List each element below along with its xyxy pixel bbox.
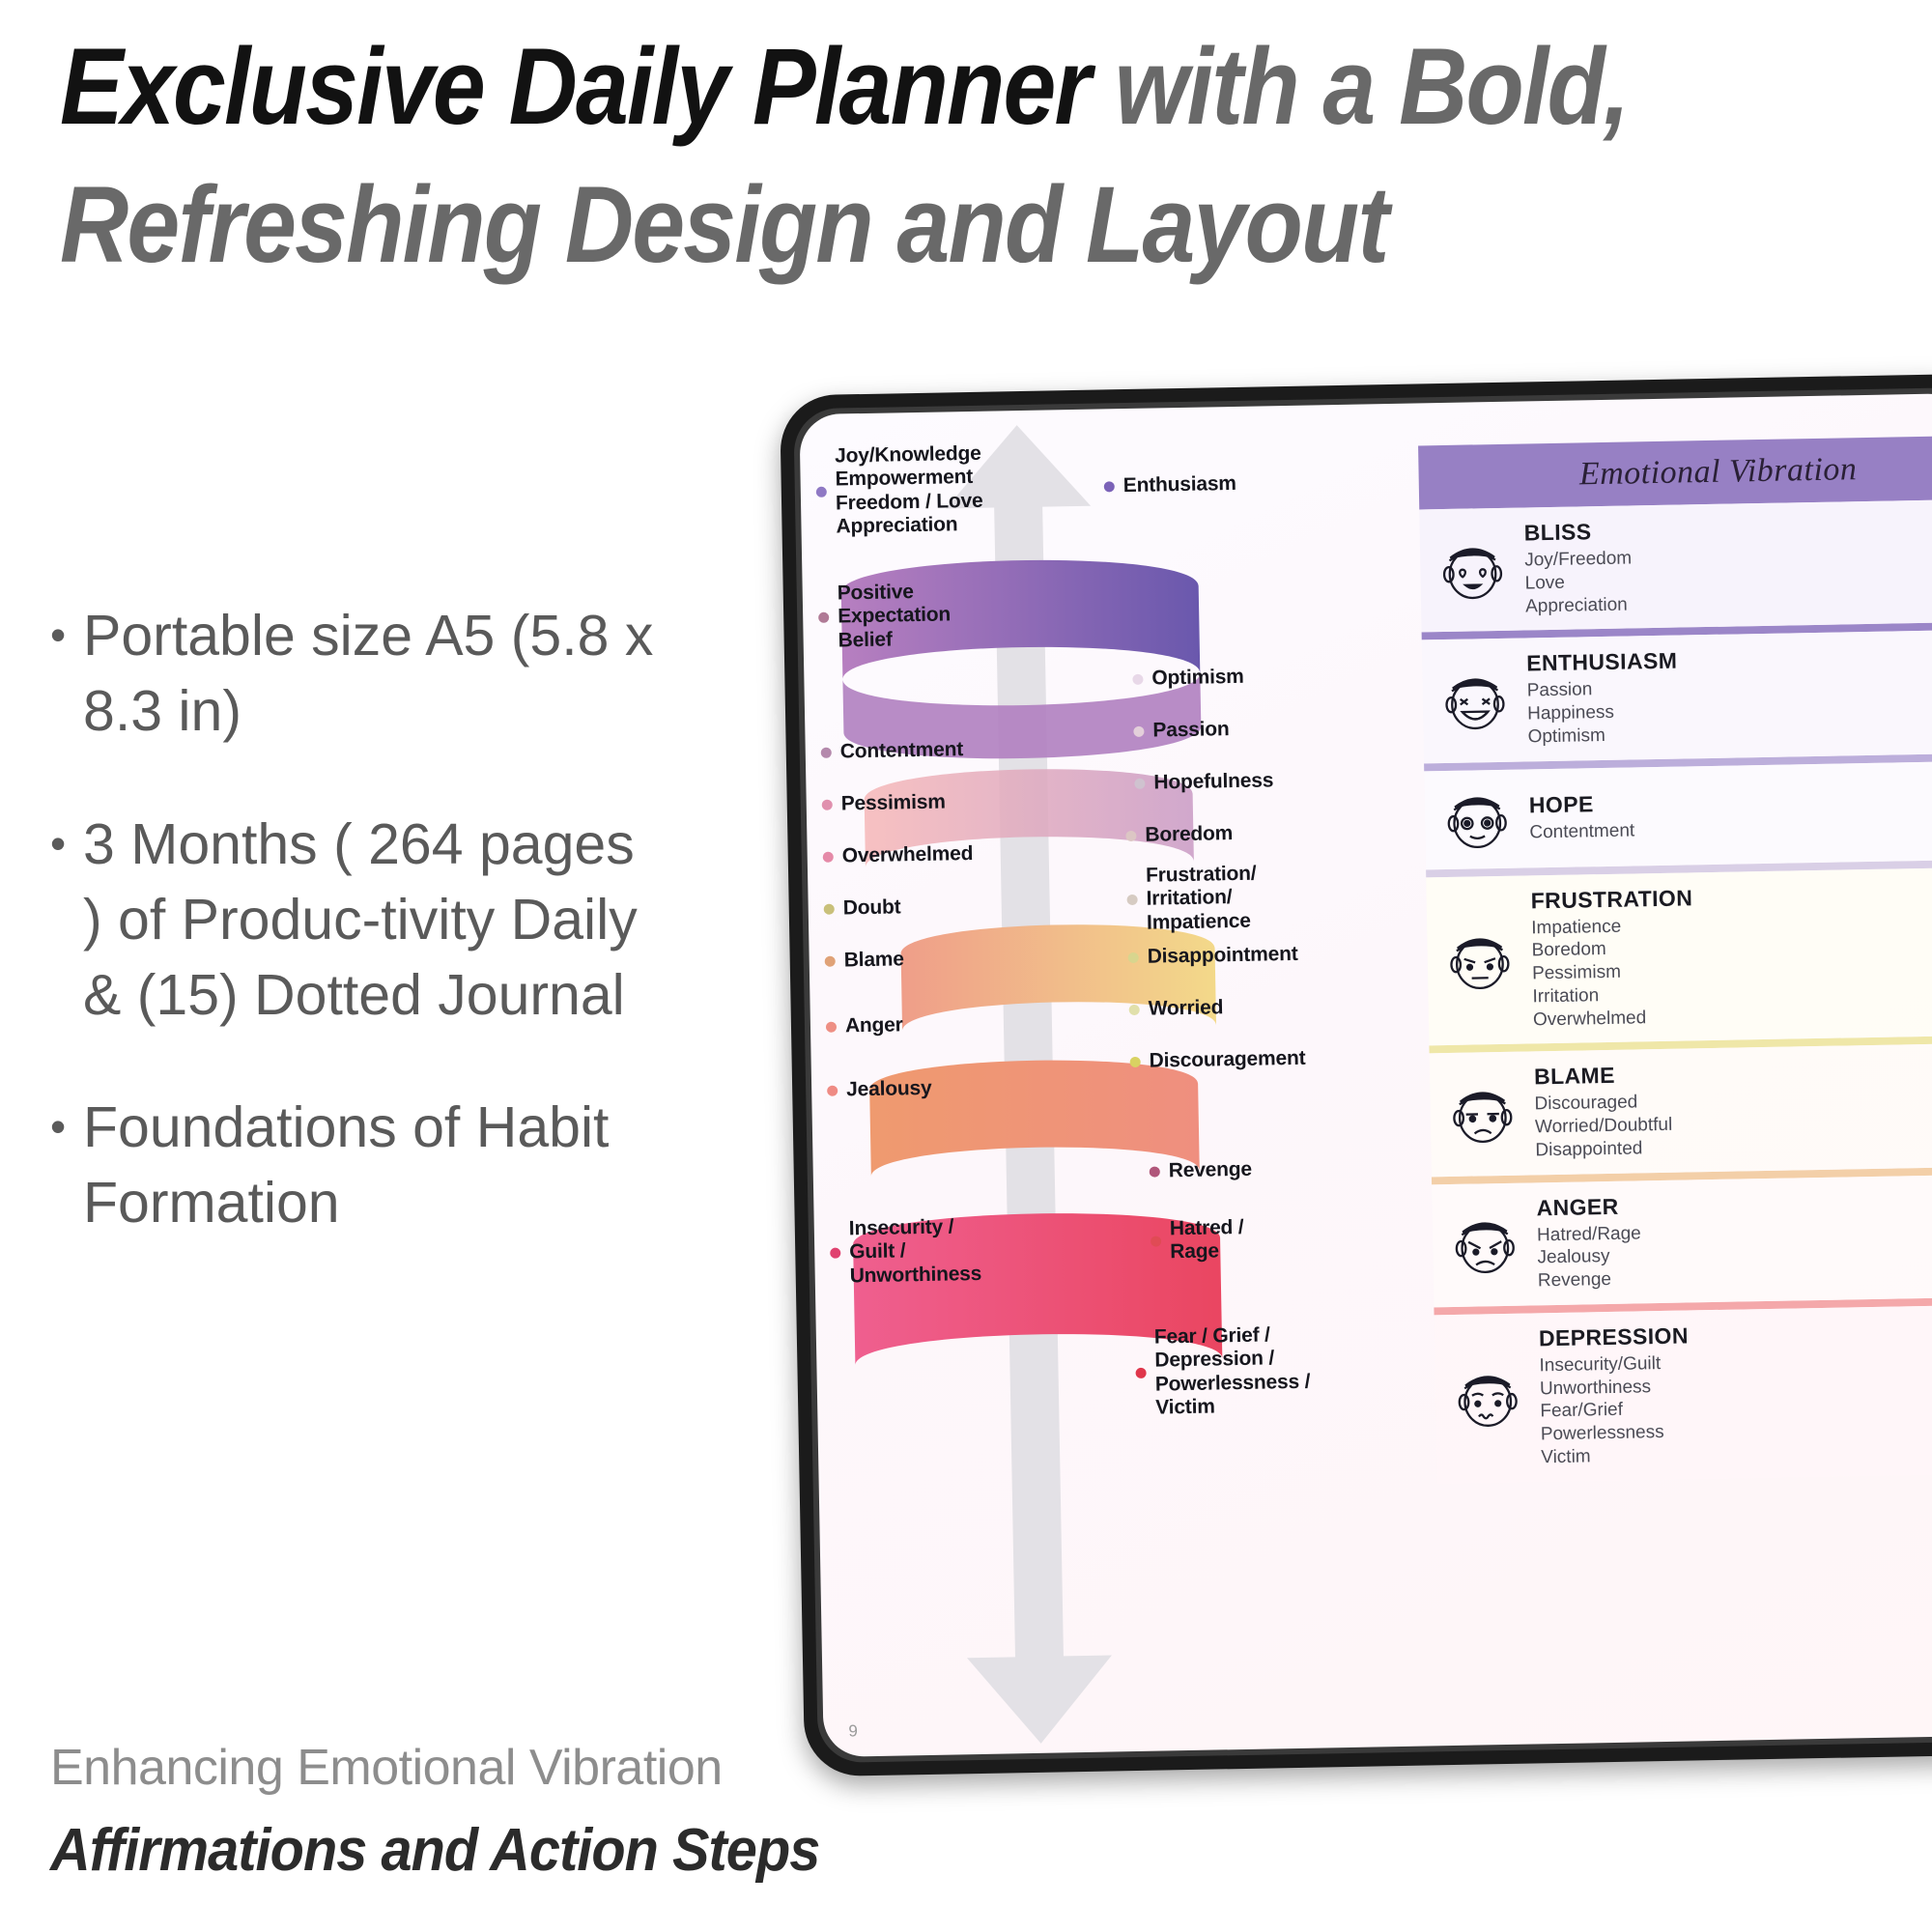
legend-dot-icon xyxy=(830,1248,840,1259)
diagram-label-insecurity: Insecurity / Guilt / Unworthiness xyxy=(830,1215,982,1289)
row-subtitle: Insecurity/Guilt Unworthiness Fear/Grief… xyxy=(1539,1346,1932,1469)
legend-dot-icon xyxy=(825,955,836,966)
tablet-bezel: Joy/Knowledge Empowerment Freedom / Love… xyxy=(793,387,1932,1763)
headline-line-1: Exclusive Daily Planner with a Bold, xyxy=(60,17,1675,156)
diagram-label-discouragement: Discouragement xyxy=(1129,1047,1305,1074)
diagram-label-fear-grief: Fear / Grief / Depression / Powerlessnes… xyxy=(1135,1323,1311,1421)
diagram-label-pessimism: Pessimism xyxy=(822,790,946,816)
legend-dot-icon xyxy=(1151,1236,1161,1246)
headline-gray-part: with a Bold, xyxy=(1115,26,1629,147)
table-header: Emotional Vibration xyxy=(1418,435,1932,509)
footer-subtitle: Enhancing Emotional Vibration xyxy=(50,1739,723,1797)
headline-line-2: Refreshing Design and Layout xyxy=(60,156,1675,294)
bullet-text: 3 Months ( 264 pages ) of Produc-tivity … xyxy=(83,808,668,1034)
depression-face xyxy=(1450,1361,1524,1435)
diagram-label-hopefulness: Hopefulness xyxy=(1134,769,1273,795)
legend-dot-icon xyxy=(816,487,827,497)
bullet-marker-icon: • xyxy=(50,1091,83,1241)
bullet-marker-icon: • xyxy=(50,599,83,750)
table-header-label: Emotional Vibration xyxy=(1579,451,1858,493)
legend-dot-icon xyxy=(823,851,834,862)
anger-face xyxy=(1448,1207,1522,1282)
diagram-label-revenge: Revenge xyxy=(1150,1158,1253,1183)
legend-dot-icon xyxy=(1128,952,1139,963)
emotional-vibration-spiral-diagram: Joy/Knowledge Empowerment Freedom / Love… xyxy=(799,404,1422,1757)
row-subtitle: Joy/Freedom Love Appreciation xyxy=(1524,540,1932,617)
bullet-text: Foundations of Habit Formation xyxy=(83,1091,668,1241)
bliss-face xyxy=(1435,532,1510,607)
legend-dot-icon xyxy=(1104,481,1115,492)
legend-dot-icon xyxy=(1125,831,1136,841)
emotional-vibration-table: Emotional Vibration xyxy=(1418,435,1932,1717)
planner-page: Joy/Knowledge Empowerment Freedom / Love… xyxy=(799,393,1932,1757)
table-row[interactable]: FRUSTRATION Impatience Boredom Pessimism… xyxy=(1426,867,1932,1046)
legend-dot-icon xyxy=(1150,1166,1160,1177)
list-item: • Portable size A5 (5.8 x 8.3 in) xyxy=(50,599,668,750)
list-item: • Foundations of Habit Formation xyxy=(50,1091,668,1241)
bullet-marker-icon: • xyxy=(50,808,83,1034)
legend-dot-icon xyxy=(1129,1005,1140,1015)
row-title: FRUSTRATION xyxy=(1530,879,1932,914)
diagram-label-hatred-rage: Hatred / Rage xyxy=(1151,1216,1244,1264)
feature-bullet-list: • Portable size A5 (5.8 x 8.3 in) • 3 Mo… xyxy=(50,599,668,1299)
table-row[interactable]: BLISS Joy/Freedom Love Appreciation xyxy=(1419,498,1932,633)
row-title: BLAME xyxy=(1534,1055,1932,1090)
legend-dot-icon xyxy=(1130,1057,1141,1067)
bullet-text: Portable size A5 (5.8 x 8.3 in) xyxy=(83,599,668,750)
legend-dot-icon xyxy=(1132,673,1143,684)
diagram-label-contentment: Contentment xyxy=(821,738,964,764)
diagram-label-worried: Worried xyxy=(1128,996,1223,1021)
diagram-label-blame: Blame xyxy=(825,948,904,973)
legend-dot-icon xyxy=(826,1021,837,1032)
legend-dot-icon xyxy=(1136,1368,1147,1378)
diagram-label-optimism: Optimism xyxy=(1132,666,1244,691)
tablet-device-mockup: Joy/Knowledge Empowerment Freedom / Love… xyxy=(780,374,1932,1777)
legend-dot-icon xyxy=(821,747,832,757)
diagram-label-boredom: Boredom xyxy=(1125,822,1233,847)
legend-dot-icon xyxy=(1134,778,1145,788)
enthusiasm-face xyxy=(1437,664,1512,738)
diagram-label-overwhelmed: Overwhelmed xyxy=(823,842,974,868)
table-row[interactable]: BLAME Discouraged Worried/Doubtful Disap… xyxy=(1430,1042,1932,1177)
table-row[interactable]: ENTHUSIASM Passion Happiness Optimism xyxy=(1422,629,1932,763)
diagram-label-positive-expectation: Positive Expectation Belief xyxy=(818,580,952,653)
row-title: ENTHUSIASM xyxy=(1526,642,1932,677)
legend-dot-icon xyxy=(824,903,835,914)
diagram-label-disappointment: Disappointment xyxy=(1127,943,1297,970)
row-title: BLISS xyxy=(1523,511,1932,546)
row-title: ANGER xyxy=(1536,1186,1932,1221)
frustration-face xyxy=(1442,923,1517,998)
table-row[interactable]: ANGER Hatred/Rage Jealousy Revenge xyxy=(1432,1173,1932,1307)
diagram-label-frustration: Frustration/ Irritation/ Impatience xyxy=(1126,863,1258,936)
legend-dot-icon xyxy=(827,1085,838,1095)
diagram-label-passion: Passion xyxy=(1133,718,1230,743)
legend-dot-icon xyxy=(1133,725,1144,736)
legend-dot-icon xyxy=(822,799,833,810)
row-title: HOPE xyxy=(1529,783,1932,818)
diagram-label-jealousy: Jealousy xyxy=(827,1077,932,1102)
row-subtitle: Passion Happiness Optimism xyxy=(1527,670,1932,748)
table-row[interactable]: HOPE Contentment xyxy=(1424,760,1932,869)
hope-face xyxy=(1439,781,1514,856)
diagram-label-enthusiasm: Enthusiasm xyxy=(1104,472,1236,498)
row-subtitle: Discouraged Worried/Doubtful Disappointe… xyxy=(1534,1084,1932,1161)
legend-dot-icon xyxy=(818,612,829,623)
diagram-label-doubt: Doubt xyxy=(824,895,901,921)
diagram-label-anger: Anger xyxy=(826,1013,903,1038)
blame-face xyxy=(1445,1077,1520,1151)
list-item: • 3 Months ( 264 pages ) of Produc-tivit… xyxy=(50,808,668,1034)
footer-title: Affirmations and Action Steps xyxy=(50,1816,819,1885)
table-row[interactable]: DEPRESSION Insecurity/Guilt Unworthiness… xyxy=(1435,1304,1932,1484)
diagram-label-joy: Joy/Knowledge Empowerment Freedom / Love… xyxy=(815,442,983,540)
page-title: Exclusive Daily Planner with a Bold, Ref… xyxy=(60,17,1675,295)
legend-dot-icon xyxy=(1127,895,1138,905)
row-subtitle: Impatience Boredom Pessimism Irritation … xyxy=(1531,908,1932,1032)
headline-bold-part: Exclusive Daily Planner xyxy=(60,26,1115,147)
row-subtitle: Hatred/Rage Jealousy Revenge xyxy=(1537,1215,1932,1293)
page-number: 9 xyxy=(848,1721,858,1741)
row-title: DEPRESSION xyxy=(1539,1317,1932,1351)
